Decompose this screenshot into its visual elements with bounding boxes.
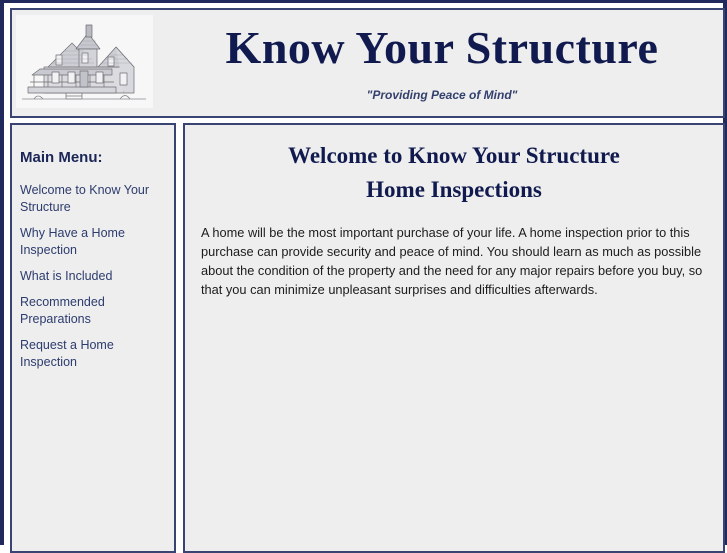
sidebar-heading: Main Menu: [20, 149, 166, 166]
site-title: Know Your Structure [162, 20, 722, 76]
sidebar-item-why-have-inspection[interactable]: Why Have a Home Inspection [20, 225, 166, 259]
victorian-house-illustration [16, 15, 153, 108]
sidebar-item-what-is-included[interactable]: What is Included [20, 268, 166, 285]
list-item: Welcome to Know Your Structure [20, 182, 166, 216]
page-title-line-1: Welcome to Know Your Structure [288, 143, 620, 168]
list-item: Recommended Preparations [20, 294, 166, 328]
sidebar-item-recommended-preparations[interactable]: Recommended Preparations [20, 294, 166, 328]
list-item: Request a Home Inspection [20, 337, 166, 371]
site-header: Know Your Structure "Providing Peace of … [10, 8, 725, 118]
page-frame: Know Your Structure "Providing Peace of … [0, 0, 727, 545]
sidebar-menu: Welcome to Know Your Structure Why Have … [20, 182, 166, 371]
page-title-line-2: Home Inspections [199, 173, 709, 207]
intro-paragraph: A home will be the most important purcha… [201, 223, 707, 299]
main-content: Welcome to Know Your Structure Home Insp… [183, 123, 725, 553]
page-title: Welcome to Know Your Structure Home Insp… [199, 139, 709, 207]
site-tagline: "Providing Peace of Mind" [162, 88, 722, 102]
sidebar-item-welcome[interactable]: Welcome to Know Your Structure [20, 182, 166, 216]
list-item: Why Have a Home Inspection [20, 225, 166, 259]
list-item: What is Included [20, 268, 166, 285]
sidebar: Main Menu: Welcome to Know Your Structur… [10, 123, 176, 553]
sidebar-item-request-inspection[interactable]: Request a Home Inspection [20, 337, 166, 371]
